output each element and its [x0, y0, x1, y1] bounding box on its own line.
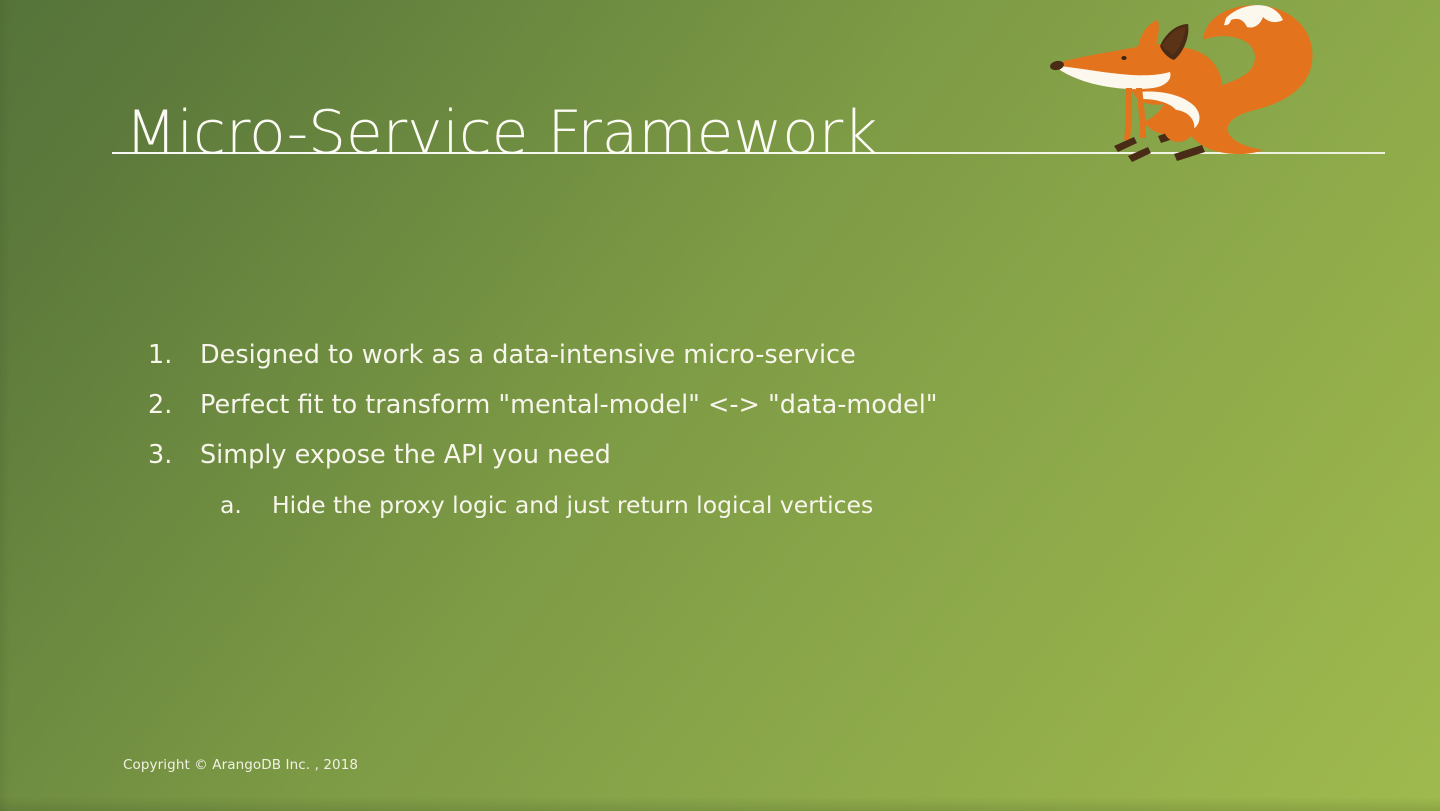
arangodb-fox-logo [1040, 0, 1330, 168]
slide-title: Micro-Service Framework [125, 95, 1025, 175]
list-item-text: Hide the proxy logic and just return log… [272, 491, 873, 519]
copyright-footer: Copyright © ArangoDB Inc. , 2018 [123, 755, 358, 775]
list-item-text: Designed to work as a data-intensive mic… [200, 340, 856, 370]
list-item: 1. Designed to work as a data-intensive … [0, 330, 1440, 380]
bullet-list: 1. Designed to work as a data-intensive … [0, 330, 1440, 530]
list-item-marker: 1. [148, 330, 192, 380]
list-item-sub: a. Hide the proxy logic and just return … [0, 480, 1440, 530]
list-item-text: Simply expose the API you need [200, 440, 611, 470]
list-item-marker: 3. [148, 430, 192, 480]
fox-front-leg-1 [1124, 88, 1132, 140]
list-item: 2. Perfect fit to transform "mental-mode… [0, 380, 1440, 430]
presentation-slide: Micro-Service Framework [0, 0, 1440, 811]
fox-eye [1121, 56, 1126, 60]
list-item-marker: 2. [148, 380, 192, 430]
list-item-text: Perfect fit to transform "mental-model" … [200, 390, 938, 420]
fox-paw-4 [1174, 145, 1205, 161]
fox-paw-2 [1128, 147, 1151, 162]
list-item: 3. Simply expose the API you need [0, 430, 1440, 480]
list-item-marker: a. [220, 480, 264, 530]
fox-logo-art [1049, 5, 1312, 162]
